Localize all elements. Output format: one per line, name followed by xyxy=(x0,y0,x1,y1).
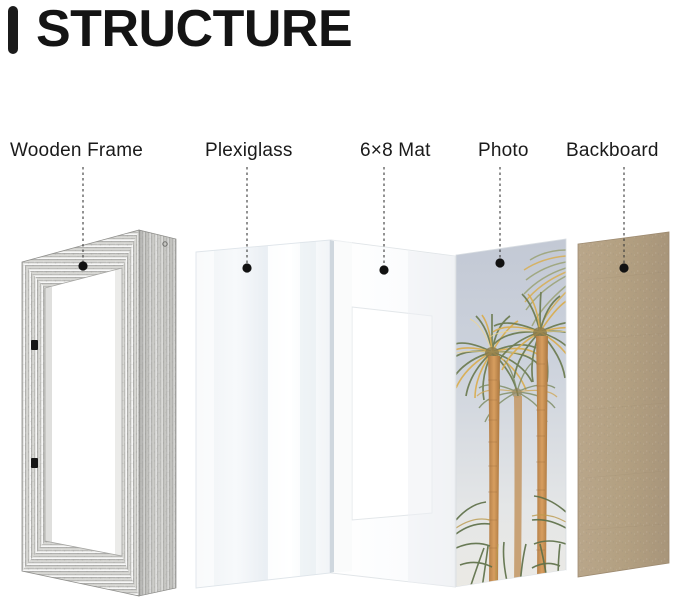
label-backboard: Backboard xyxy=(566,140,659,162)
layer-mat[interactable] xyxy=(331,240,455,587)
label-wooden-frame: Wooden Frame xyxy=(10,140,143,162)
frame-clip-lower xyxy=(31,458,38,468)
label-photo: Photo xyxy=(478,140,529,162)
label-plexiglass: Plexiglass xyxy=(205,140,293,162)
photo-image xyxy=(444,230,589,600)
palm-trunk-c xyxy=(514,396,522,588)
label-mat: 6×8 Mat xyxy=(360,140,431,162)
structure-diagram-page: STRUCTURE xyxy=(0,0,679,605)
palm-trunk-a xyxy=(488,356,500,588)
leader-dot-plexiglass xyxy=(242,263,251,272)
layer-wooden-frame[interactable] xyxy=(22,230,176,596)
leader-dot-mat xyxy=(379,265,388,274)
frame-clip-upper xyxy=(31,340,38,350)
leader-dot-backboard xyxy=(619,263,628,272)
layer-plexiglass[interactable] xyxy=(196,240,334,588)
leader-dot-photo xyxy=(495,258,504,267)
layer-backboard[interactable] xyxy=(578,232,669,577)
leader-dot-wooden-frame xyxy=(78,261,87,270)
layer-photo[interactable] xyxy=(444,230,589,600)
exploded-view-illustration xyxy=(0,0,679,605)
